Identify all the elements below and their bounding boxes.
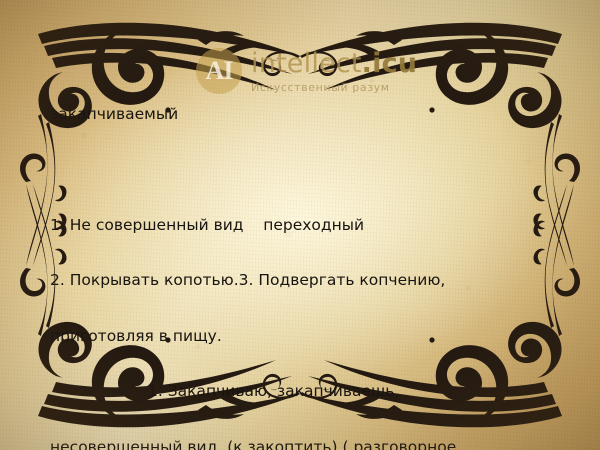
article-line: 2. Покрывать копотью.3. Подвергать копче… (50, 271, 560, 290)
dictionary-article: закапчиваемый 1. Не совершенный вид пере… (50, 68, 560, 450)
article-line: 1. Закапчиваю, закапчиваешь, (50, 382, 560, 401)
article-line: несовершенный вид (к закоптить) ( разгов… (50, 438, 560, 450)
headword: закапчиваемый (50, 105, 560, 124)
parchment-page: AI intellect.icu Искусственный разум зак… (0, 0, 600, 450)
headword-spacer (50, 161, 560, 179)
article-line: приготовляя в пищу. (50, 327, 560, 346)
article-line: 1. Не совершенный вид переходный (50, 216, 560, 235)
